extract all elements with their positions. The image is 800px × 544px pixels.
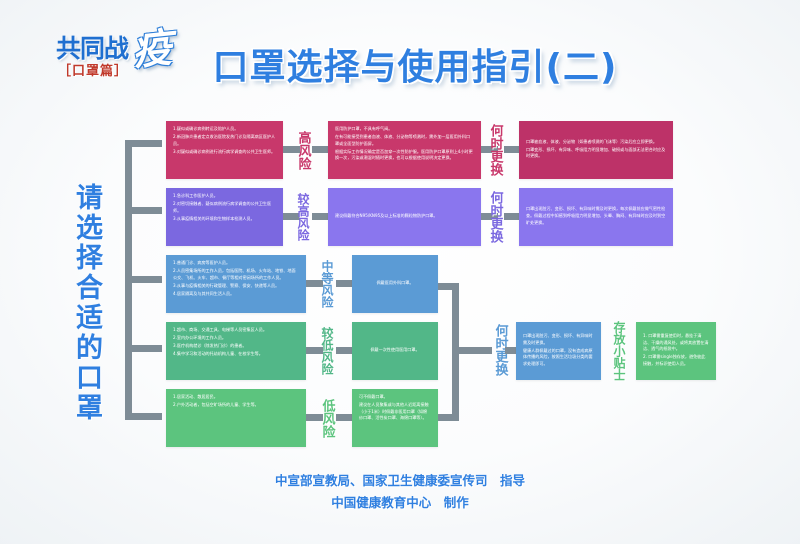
risk-label-low: 低风险 bbox=[316, 387, 338, 449]
tips-line: 1. 口罩需重复使用时，悬挂于清洁、干燥的通风处，或将其放置在清洁、透气的纸袋中… bbox=[643, 333, 709, 353]
scene-line: 3.对疑似或确诊病例进行流行病学调查的公共卫生医师。 bbox=[173, 149, 276, 156]
advice-box-higher-risk: 口罩出现脏污、变形、损坏、有异味时需及时更换，每次佩戴前应做气密性检查。佩戴过程… bbox=[519, 188, 673, 246]
mask-line: 在有可能接受到患者血液、体液、分泌物等喷溅时，需外加一层医用外科口罩或全面型防护… bbox=[335, 134, 474, 147]
scene-line: 2.新冠肺炎患者定点收治医院发热门诊及隔离病区医护人员。 bbox=[173, 134, 276, 147]
mask-line: 医用防护口罩，不具有呼气阀。 bbox=[335, 126, 474, 133]
scene-line: 1.超市、商场、交通工具、电梯等人员密集区人员。 bbox=[173, 327, 299, 334]
footer-line-1: 中宣部宣教局、国家卫生健康委宣传司 指导 bbox=[0, 470, 800, 492]
left-bracket-branch-low bbox=[125, 413, 162, 420]
advice-line: 口罩被血液、体液、分泌物（如患者喷溅的飞沫等）污染后应立即更换。 bbox=[526, 139, 666, 146]
connector-high-label-mask bbox=[312, 146, 329, 153]
scene-line: 2.人员密集场所的工作人员，包括医院、机场、火车站、地铁、地面公交、飞机、火车、… bbox=[173, 268, 299, 281]
risk-label-medium: 中等风险 bbox=[316, 251, 338, 317]
scene-box-low-risk: 1.居家活动、散居居民。 2.户外活动者，包括空旷场所的儿童、学生等。 bbox=[166, 389, 306, 447]
right-bracket-stem bbox=[452, 347, 492, 354]
advice-line: 口罩变形、损坏、有异味、呼吸阻力明显增加、破损或与面部无法密合时应及时更换。 bbox=[526, 147, 666, 160]
left-bracket-branch-lower bbox=[125, 345, 162, 352]
scene-box-medium-risk: 1.普通门诊、病房等医护人员。 2.人员密集场所的工作人员，包括医院、机场、火车… bbox=[166, 255, 306, 313]
mask-line: 根据实际工作情况确定是否加穿一次性防护服。医用防护口罩原则上4小时更换一次，污染… bbox=[335, 149, 474, 162]
left-bracket-branch-high bbox=[125, 140, 162, 147]
mask-box-high-risk: 医用防护口罩，不具有呼气阀。 在有可能接受到患者血液、体液、分泌物等喷溅时，需外… bbox=[328, 121, 481, 179]
mask-line: 可不佩戴口罩。 bbox=[359, 394, 431, 401]
mask-line: 建议在人员聚集或与其他人近距离接触（小于1米）时佩戴非医用口罩（如棉纱口罩、活性… bbox=[359, 402, 431, 422]
left-bracket-branch-higher bbox=[125, 207, 162, 214]
scene-line: 3.从事疫情相关的环境和生物样本检测人员。 bbox=[173, 216, 276, 223]
campaign-logo: 共同战 疫 ［口罩篇］ bbox=[50, 32, 210, 94]
advice-box-shared: 口罩出现脏污、变形、损坏、有异味时需及时更换。 健康人群佩戴过的口罩，没有造成病… bbox=[516, 322, 601, 380]
mask-box-lower-risk: 佩戴一次性使用医用口罩。 bbox=[352, 322, 438, 380]
connector-lower-label-mask bbox=[336, 347, 353, 354]
sidebar-caption: 请选择合适的口罩 bbox=[62, 178, 102, 428]
mask-box-higher-risk: 建议佩戴符合N95/KN95及以上标准的颗粒物防护口罩。 bbox=[328, 188, 481, 246]
scene-line: 2.户外活动者，包括空旷场所的儿童、学生等。 bbox=[173, 402, 299, 409]
mask-box-low-risk: 可不佩戴口罩。 建议在人员聚集或与其他人近距离接触（小于1米）时佩戴非医用口罩（… bbox=[352, 389, 438, 447]
logo-yi-character: 疫 bbox=[130, 28, 174, 72]
tips-box-storage: 1. 口罩需重复使用时，悬挂于清洁、干燥的通风处，或将其放置在清洁、透气的纸袋中… bbox=[636, 322, 716, 380]
connector-higher-label-mask bbox=[312, 213, 329, 220]
risk-label-lower: 较低风险 bbox=[316, 318, 338, 384]
tips-label-storage: 存放小贴士 bbox=[608, 312, 630, 390]
mask-line: 佩戴医用外科口罩。 bbox=[359, 280, 431, 287]
advice-line: 健康人群佩戴过的口罩，没有造成病原体传播的风险，按照生活垃圾分类的要求处理即可。 bbox=[523, 348, 594, 368]
right-bracket-branch-medium bbox=[438, 283, 459, 290]
risk-label-higher: 较高风险 bbox=[292, 184, 314, 250]
page-title: 口罩选择与使用指引(二) bbox=[200, 42, 630, 94]
advice-line: 口罩出现脏污、变形、损坏、有异味时需及时更换，每次佩戴前应做气密性检查。佩戴过程… bbox=[526, 206, 666, 226]
tips-line: 2. 口罩需single独存放，避免彼此接触，并标识使用人员。 bbox=[643, 354, 709, 367]
scene-line: 2.对密切接触者、疑似病例流行病学调查的公共卫生医师。 bbox=[173, 201, 276, 214]
scene-line: 1.急诊科工作医护人员。 bbox=[173, 193, 276, 200]
scene-line: 1.疑似或确诊病例转运及陪护人员。 bbox=[173, 126, 276, 133]
mask-box-medium-risk: 佩戴医用外科口罩。 bbox=[352, 255, 438, 313]
mask-line: 佩戴一次性使用医用口罩。 bbox=[359, 347, 431, 354]
right-bracket-branch-low bbox=[438, 414, 459, 421]
scene-line: 3.医疗机构就诊（除发热门诊）的患者。 bbox=[173, 343, 299, 350]
action-label-higher: 何时更换 bbox=[484, 185, 506, 249]
connector-medium-label-mask bbox=[336, 280, 353, 287]
scene-line: 1.普通门诊、病房等医护人员。 bbox=[173, 260, 299, 267]
advice-line: 口罩出现脏污、变形、损坏、有异味时需及时更换。 bbox=[523, 333, 594, 346]
logo-main-text: 共同战 bbox=[56, 36, 128, 61]
advice-box-high-risk: 口罩被血液、体液、分泌物（如患者喷溅的飞沫等）污染后应立即更换。 口罩变形、损坏… bbox=[519, 121, 673, 179]
footer-line-2: 中国健康教育中心 制作 bbox=[0, 492, 800, 514]
scene-box-high-risk: 1.疑似或确诊病例转运及陪护人员。 2.新冠肺炎患者定点收治医院发热门诊及隔离病… bbox=[166, 121, 283, 179]
risk-label-high: 高风险 bbox=[292, 120, 314, 180]
infographic-canvas: 共同战 疫 ［口罩篇］ 口罩选择与使用指引(二) 请选择合适的口罩 1.疑似或确… bbox=[0, 0, 800, 544]
scene-line: 2.室内办公环境的工作人员。 bbox=[173, 335, 299, 342]
scene-line: 3.从事与疫情相关的行政管理、警察、保安、快递等人员。 bbox=[173, 283, 299, 290]
logo-subtitle: ［口罩篇］ bbox=[58, 65, 128, 78]
footer: 中宣部宣教局、国家卫生健康委宣传司 指导 中国健康教育中心 制作 bbox=[0, 470, 800, 514]
mask-line: 建议佩戴符合N95/KN95及以上标准的颗粒物防护口罩。 bbox=[335, 213, 474, 220]
scene-box-higher-risk: 1.急诊科工作医护人员。 2.对密切接触者、疑似病例流行病学调查的公共卫生医师。… bbox=[166, 188, 283, 246]
connector-low-label-mask bbox=[336, 414, 353, 421]
scene-line: 4.集中学习和活动的托幼机构儿童、在校学生等。 bbox=[173, 351, 299, 358]
scene-box-lower-risk: 1.超市、商场、交通工具、电梯等人员密集区人员。 2.室内办公环境的工作人员。 … bbox=[166, 322, 306, 380]
scene-line: 4.居家隔离及与其共同生活人员。 bbox=[173, 291, 299, 298]
action-label-high: 何时更换 bbox=[484, 118, 506, 182]
left-bracket-branch-medium bbox=[125, 276, 162, 283]
scene-line: 1.居家活动、散居居民。 bbox=[173, 394, 299, 401]
